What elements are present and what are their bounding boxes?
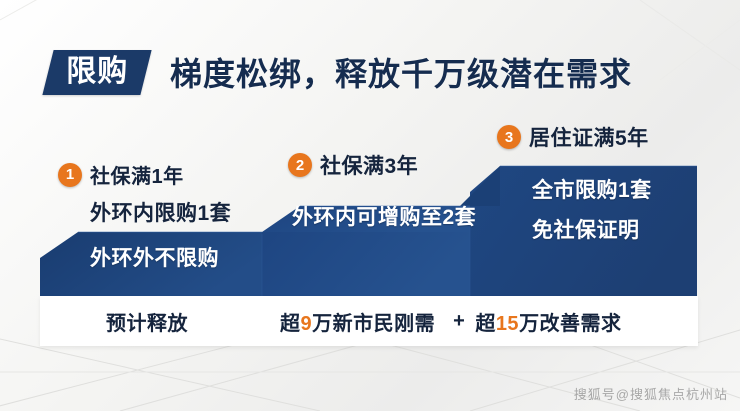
step-1-line-light: 外环外不限购 — [90, 242, 231, 272]
step-2: 2 社保满3年 外环内可增购至2套 — [288, 150, 476, 231]
summary-item-2-number: 15 — [496, 313, 519, 335]
summary-item-1-post: 万新市民刚需 — [312, 313, 435, 335]
summary-item-2: 超15万改善需求 — [475, 307, 621, 336]
summary-item-1-number: 9 — [301, 313, 313, 335]
summary-item-2-post: 万改善需求 — [519, 313, 622, 335]
page-title: 梯度松绑，释放千万级潜在需求 — [170, 49, 632, 95]
summary-item-1-pre: 超 — [280, 313, 301, 335]
step-1-line-dark: 外环内限购1套 — [90, 197, 231, 227]
infographic-canvas: 限购 梯度松绑，释放千万级潜在需求 1 社保满1年 外环内限购1套 外环外不限购… — [0, 0, 740, 411]
step-3-line-light-1: 全市限购1套 — [532, 174, 652, 204]
title-row: 限购 梯度松绑，释放千万级潜在需求 — [48, 44, 632, 100]
step-1-number-icon: 1 — [58, 163, 82, 187]
step-2-line-light: 外环内可增购至2套 — [292, 201, 476, 231]
summary-label: 预计释放 — [106, 307, 188, 336]
step-3-head-text: 居住证满5年 — [529, 122, 649, 152]
summary-band: 预计释放 超9万新市民刚需 + 超15万改善需求 — [40, 296, 698, 346]
step-2-number-icon: 2 — [288, 153, 312, 177]
category-badge-label: 限购 — [66, 55, 128, 88]
summary-plus-sign: + — [453, 310, 465, 333]
step-2-head: 2 社保满3年 — [288, 150, 476, 180]
step-2-head-text: 社保满3年 — [320, 150, 418, 180]
summary-item-2-pre: 超 — [475, 313, 496, 335]
watermark: 搜狐号@搜狐焦点杭州站 — [574, 384, 728, 403]
category-badge: 限购 — [42, 50, 151, 95]
step-1-head: 1 社保满1年 — [58, 160, 231, 189]
step-3: 3 居住证满5年 全市限购1套 免社保证明 — [497, 122, 652, 244]
step-1: 1 社保满1年 外环内限购1套 外环外不限购 — [58, 160, 231, 272]
step-3-head: 3 居住证满5年 — [497, 122, 652, 152]
summary-item-1: 超9万新市民刚需 — [280, 307, 435, 336]
step-1-head-text: 社保满1年 — [90, 160, 184, 189]
step-3-line-light-2: 免社保证明 — [532, 214, 652, 244]
step-3-number-icon: 3 — [497, 125, 521, 149]
